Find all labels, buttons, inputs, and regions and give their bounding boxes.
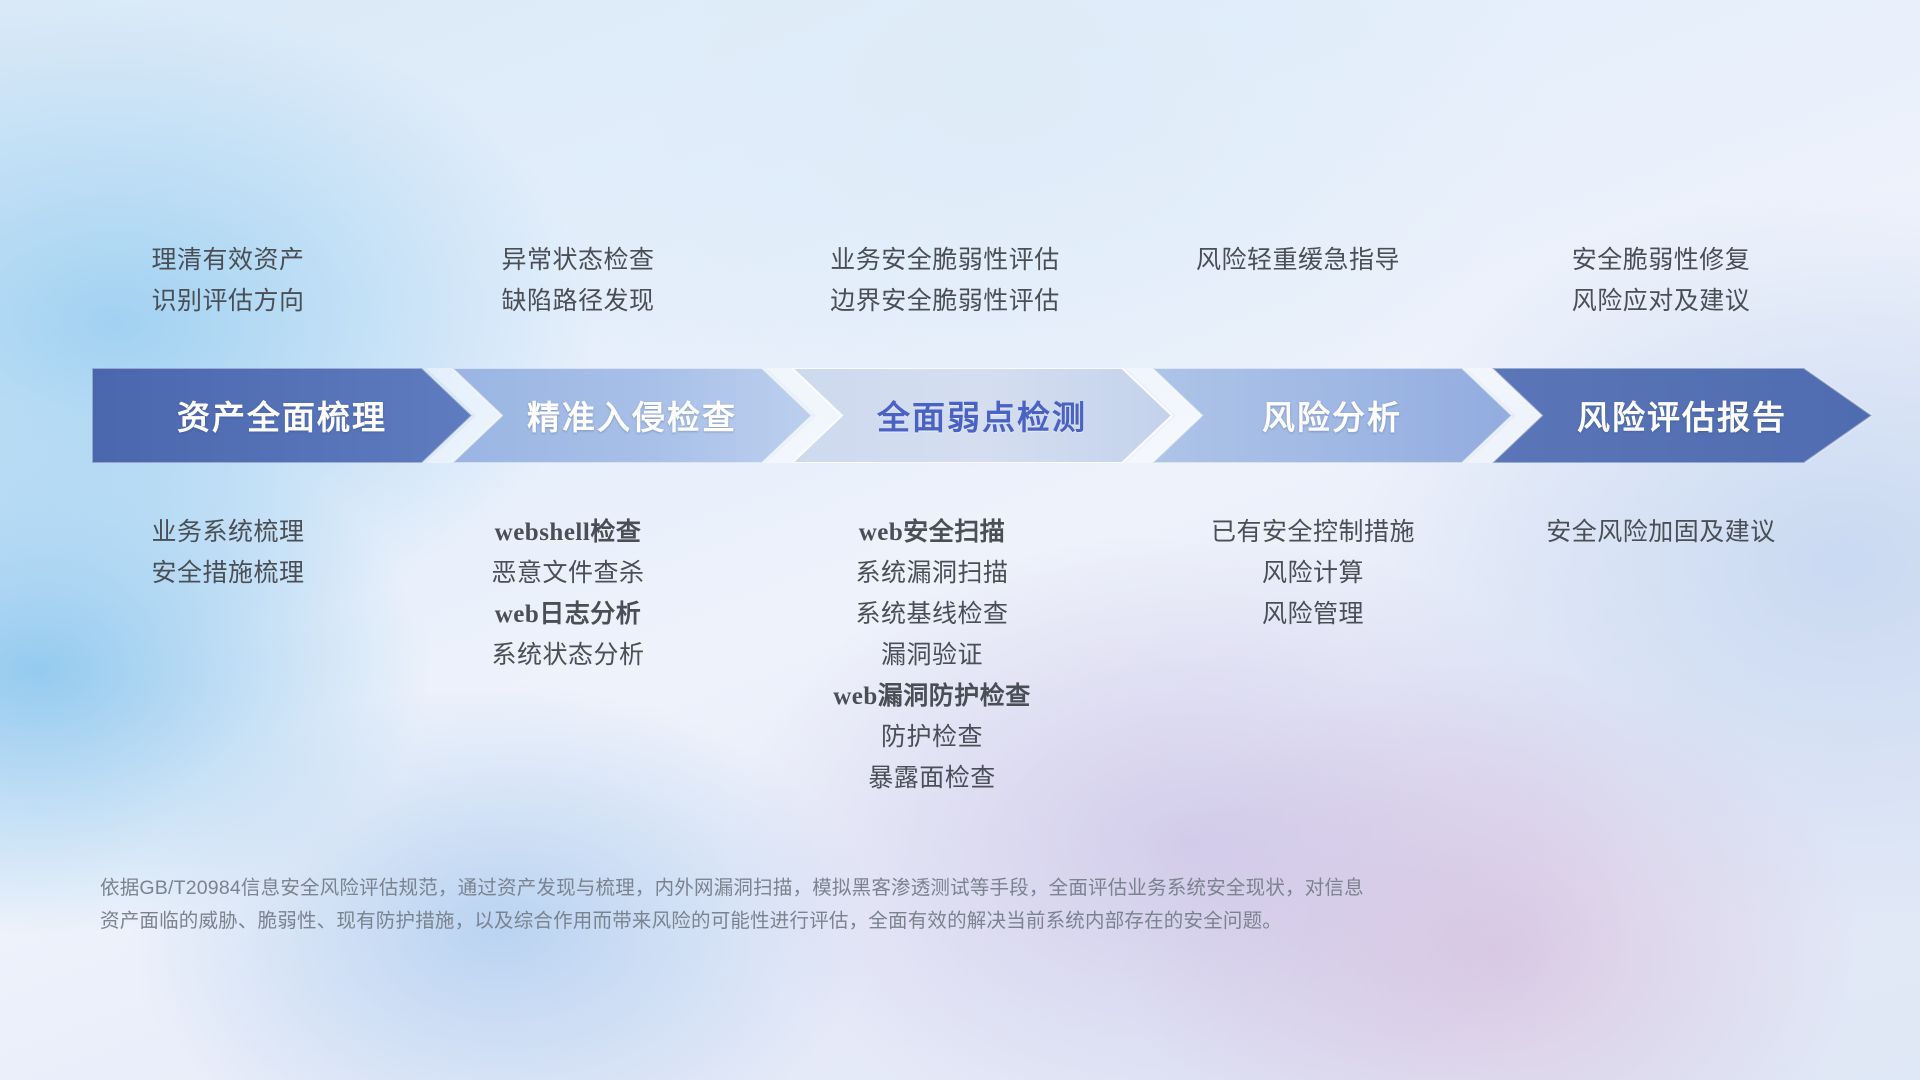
stage-5-bottom-item-1: 安全风险加固及建议 xyxy=(1546,512,1776,553)
stage-1-bottom-item-1: 业务系统梳理 xyxy=(151,512,304,553)
footnote-line-1: 依据GB/T20984信息安全风险评估规范，通过资产发现与梳理，内外网漏洞扫描，… xyxy=(100,872,1660,905)
stage-3-bottom-items: web安全扫描 系统漏洞扫描 系统基线检查 漏洞验证 web漏洞防护检查 防护检… xyxy=(833,512,1031,799)
stage-3-bottom-item-1: web安全扫描 xyxy=(833,512,1031,553)
stage-5-top-items: 安全脆弱性修复 风险应对及建议 xyxy=(1572,240,1751,322)
stage-2-bottom-item-3: web日志分析 xyxy=(491,594,644,635)
stage-2-top-item-1: 异常状态检查 xyxy=(501,240,654,281)
slide-canvas: 理清有效资产 识别评估方向 异常状态检查 缺陷路径发现 业务安全脆弱性评估 边界… xyxy=(0,0,1920,1080)
stage-1-bottom-item-2: 安全措施梳理 xyxy=(151,553,304,594)
stage-2-bottom-item-2: 恶意文件查杀 xyxy=(491,553,644,594)
stage-2-chevron[interactable]: 精准入侵检查 xyxy=(452,368,812,463)
stage-5-top-item-1: 安全脆弱性修复 xyxy=(1572,240,1751,281)
stage-2-bottom-item-1: webshell检查 xyxy=(491,512,644,553)
stage-3-bottom-item-3: 系统基线检查 xyxy=(833,594,1031,635)
stage-3-top-items: 业务安全脆弱性评估 边界安全脆弱性评估 xyxy=(830,240,1060,322)
stage-5-top-item-2: 风险应对及建议 xyxy=(1572,281,1751,322)
stage-4-top-items: 风险轻重缓急指导 xyxy=(1196,240,1400,281)
stage-5-chevron[interactable]: 风险评估报告 xyxy=(1492,368,1872,463)
stage-3-bottom-item-4: 漏洞验证 xyxy=(833,635,1031,676)
process-chevron-band: 资产全面梳理 精准入侵检查 xyxy=(0,368,1920,463)
footnote-line-2: 资产面临的威胁、脆弱性、现有防护措施，以及综合作用而带来风险的可能性进行评估，全… xyxy=(100,905,1660,938)
stage-1-top-item-2: 识别评估方向 xyxy=(151,281,304,322)
stage-3-label: 全面弱点检测 xyxy=(877,391,1087,441)
stage-4-bottom-items: 已有安全控制措施 风险计算 风险管理 xyxy=(1211,512,1415,635)
stage-3-top-item-1: 业务安全脆弱性评估 xyxy=(830,240,1060,281)
footnote-paragraph: 依据GB/T20984信息安全风险评估规范，通过资产发现与梳理，内外网漏洞扫描，… xyxy=(100,872,1660,938)
stage-4-top-item-1: 风险轻重缓急指导 xyxy=(1196,240,1400,281)
stage-3-bottom-item-2: 系统漏洞扫描 xyxy=(833,553,1031,594)
stage-1-top-item-1: 理清有效资产 xyxy=(151,240,304,281)
stage-4-bottom-item-2: 风险计算 xyxy=(1211,553,1415,594)
stage-3-chevron[interactable]: 全面弱点检测 xyxy=(792,368,1172,463)
stage-5-label: 风险评估报告 xyxy=(1577,391,1787,441)
stage-3-top-item-2: 边界安全脆弱性评估 xyxy=(830,281,1060,322)
stage-3-bottom-item-7: 暴露面检查 xyxy=(833,758,1031,799)
stage-2-label: 精准入侵检查 xyxy=(527,391,737,441)
stage-1-chevron[interactable]: 资产全面梳理 xyxy=(92,368,472,463)
stage-1-label: 资产全面梳理 xyxy=(177,391,387,441)
stage-5-bottom-items: 安全风险加固及建议 xyxy=(1546,512,1776,553)
stage-3-bottom-item-5: web漏洞防护检查 xyxy=(833,676,1031,717)
stage-2-top-item-2: 缺陷路径发现 xyxy=(501,281,654,322)
stage-4-bottom-item-1: 已有安全控制措施 xyxy=(1211,512,1415,553)
stage-3-bottom-item-6: 防护检查 xyxy=(833,717,1031,758)
stage-1-top-items: 理清有效资产 识别评估方向 xyxy=(151,240,304,322)
stage-2-bottom-items: webshell检查 恶意文件查杀 web日志分析 系统状态分析 xyxy=(491,512,644,676)
stage-2-bottom-item-4: 系统状态分析 xyxy=(491,635,644,676)
stage-4-label: 风险分析 xyxy=(1262,391,1402,441)
stage-1-bottom-items: 业务系统梳理 安全措施梳理 xyxy=(151,512,304,594)
stage-4-bottom-item-3: 风险管理 xyxy=(1211,594,1415,635)
stage-4-chevron[interactable]: 风险分析 xyxy=(1152,368,1512,463)
stage-2-top-items: 异常状态检查 缺陷路径发现 xyxy=(501,240,654,322)
